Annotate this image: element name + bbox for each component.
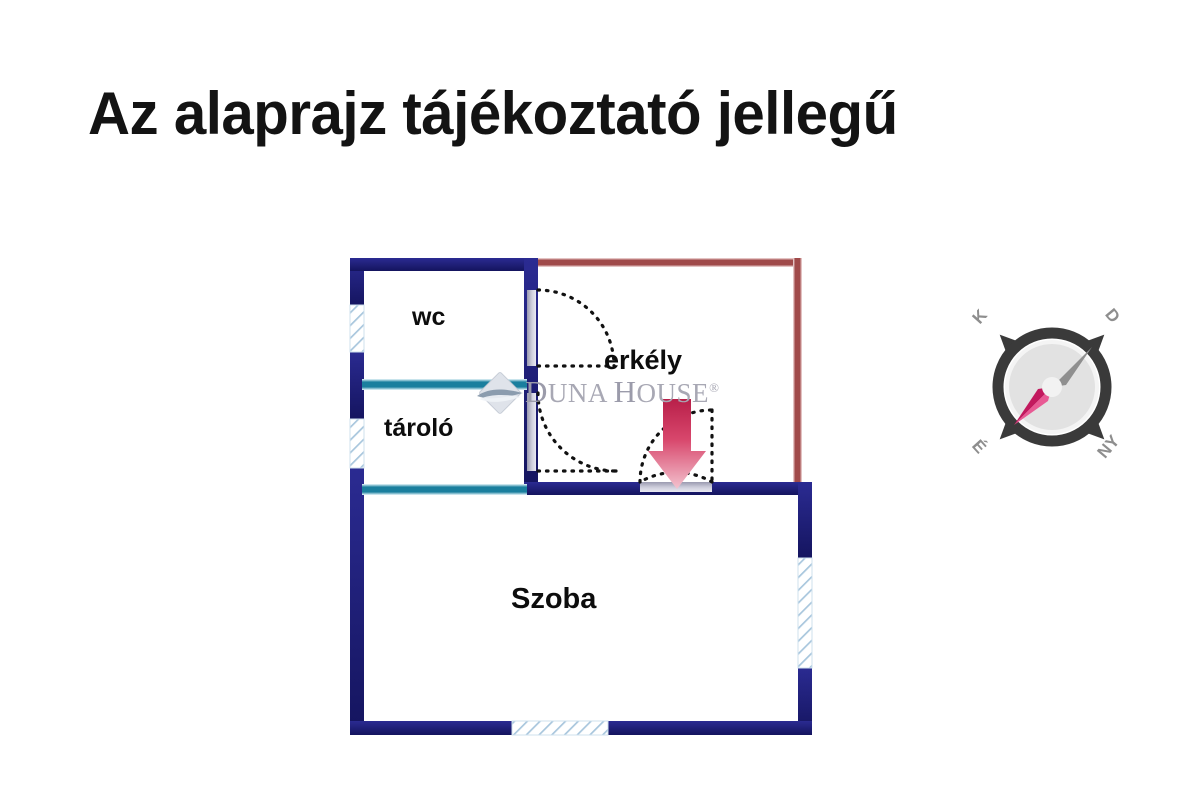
partition-wc-tarolo — [362, 379, 527, 390]
balcony-wall-top — [536, 258, 802, 267]
door-wc-leaf — [527, 290, 536, 366]
window-left-upper — [350, 305, 364, 352]
window-left-lower — [350, 419, 364, 468]
compass-label-west: NY — [1094, 432, 1125, 463]
wall-left-seg2 — [350, 350, 364, 421]
door-wc-arc — [538, 290, 614, 366]
room-label-wc: wc — [412, 303, 445, 332]
wall-left-seg3 — [350, 466, 364, 735]
compass-label-north: É — [967, 436, 989, 458]
compass-label-east: K — [969, 306, 992, 329]
door-tarolo-leaf — [527, 393, 536, 471]
floorplan-page: Az alaprajz tájékoztató jellegű — [0, 0, 1200, 789]
door-tarolo-arc — [538, 393, 616, 471]
balcony-wall-right — [793, 258, 802, 490]
window-right-szoba — [798, 558, 812, 668]
wall-bottom-seg1 — [350, 721, 513, 735]
compass-label-south: D — [1101, 305, 1124, 327]
wall-bottom-seg2 — [607, 721, 812, 735]
room-label-tarolo: tároló — [384, 414, 453, 443]
room-label-erkely: erkély — [604, 345, 682, 376]
door-tarolo — [527, 393, 616, 471]
windows — [350, 305, 812, 735]
partition-tarolo-szoba — [362, 484, 527, 495]
window-bottom-szoba — [512, 721, 608, 735]
wall-top-service — [350, 258, 538, 271]
compass: K D NY É — [963, 298, 1141, 476]
door-wc — [527, 290, 614, 366]
room-label-szoba: Szoba — [511, 583, 596, 616]
wall-right-seg1 — [798, 482, 812, 560]
